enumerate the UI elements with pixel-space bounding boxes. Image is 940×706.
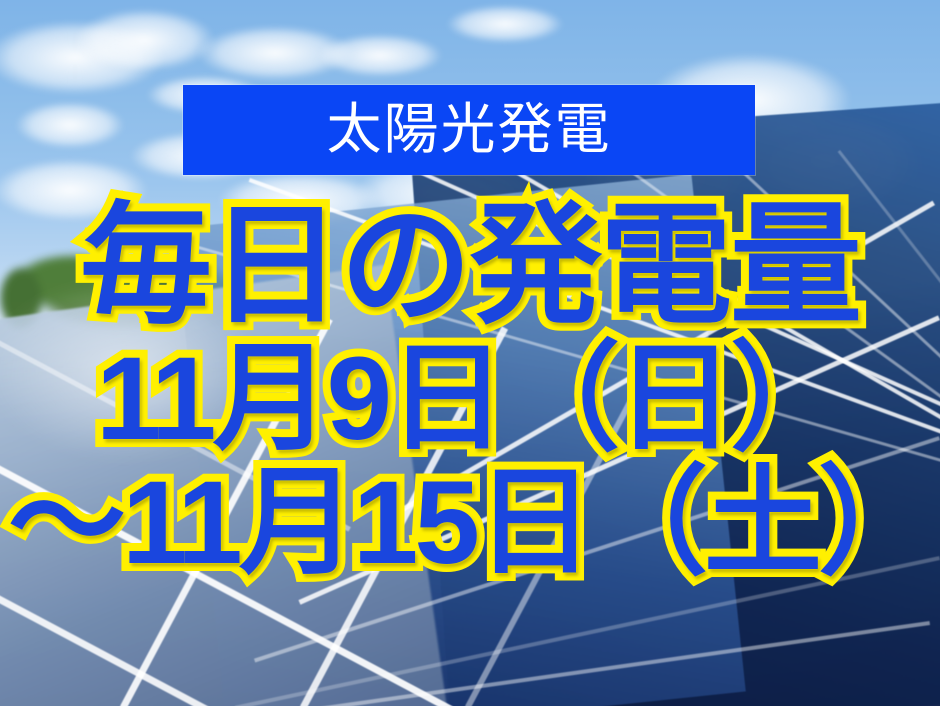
headline-date-end: 〜11月15日（土） xyxy=(0,464,940,582)
headline-block: 毎日の発電量 11月9日（日） 〜11月15日（土） xyxy=(0,200,940,582)
banner-label: 太陽光発電 xyxy=(326,102,611,157)
headline-date-start: 11月9日（日） xyxy=(0,340,940,458)
banner: 太陽光発電 xyxy=(183,85,755,175)
headline-title: 毎日の発電量 xyxy=(0,200,940,332)
title-card: 太陽光発電 毎日の発電量 11月9日（日） 〜11月15日（土） xyxy=(0,0,940,706)
